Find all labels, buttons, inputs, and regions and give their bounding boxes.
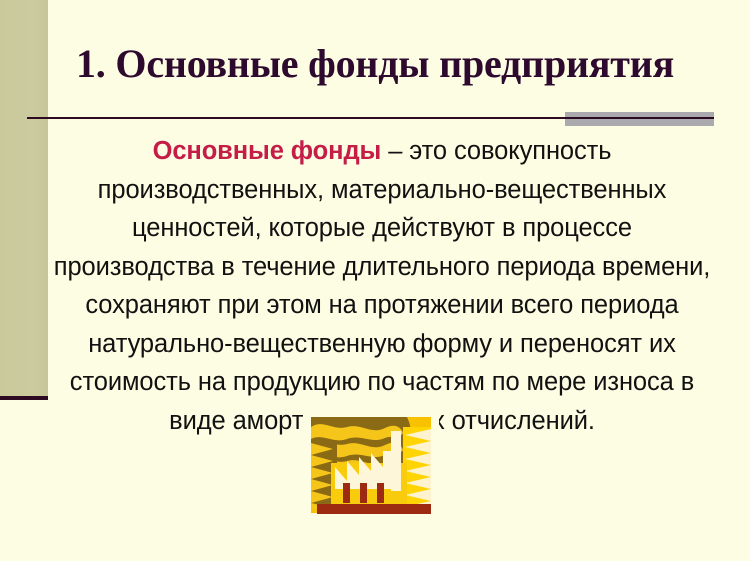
factory-illustration-svg: [303, 411, 439, 517]
factory-windows: [343, 483, 384, 503]
slide: 1. Основные фонды предприятия Основные ф…: [0, 0, 750, 561]
right-zigzag-rays: [403, 427, 431, 510]
slide-title: 1. Основные фонды предприятия: [76, 39, 726, 89]
left-decorative-band: [0, 0, 48, 396]
factory-ground-strip: [317, 504, 431, 514]
divider-gray-block: [565, 112, 714, 126]
body-definition-text: – это совокупность производственных, мат…: [54, 137, 711, 435]
divider-line: [27, 117, 714, 119]
slide-body-text: Основные фонды – это совокупность произв…: [52, 132, 712, 440]
factory-clipart-icon: [303, 411, 439, 517]
body-term-highlight: Основные фонды: [153, 137, 382, 165]
left-band-end-rule: [0, 396, 48, 400]
title-divider: [0, 104, 750, 132]
